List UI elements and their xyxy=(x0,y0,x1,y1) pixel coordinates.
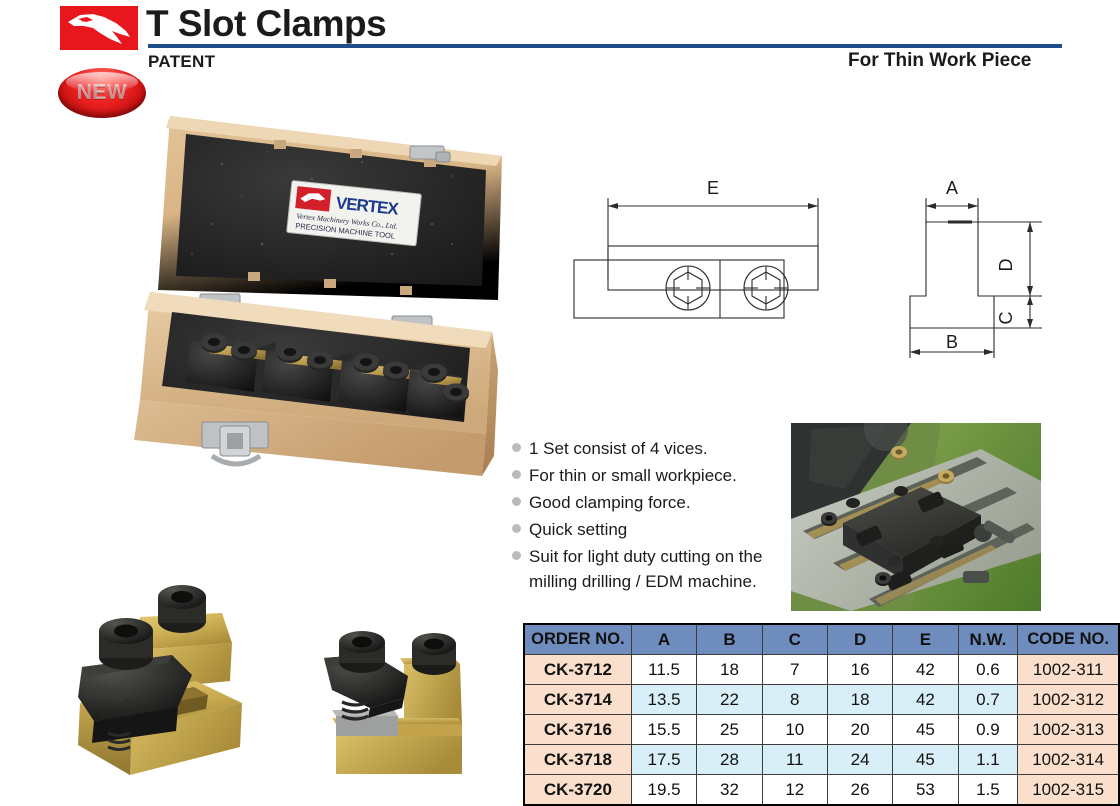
patent-label: PATENT xyxy=(148,52,215,72)
column-header: B xyxy=(697,624,762,655)
product-box-photo: VERTEX Vertex Machinery Works Co., Ltd. … xyxy=(62,104,510,500)
cell-order-no: CK-3716 xyxy=(524,715,631,745)
cell-b: 18 xyxy=(697,655,762,685)
table-row: CK-3718 17.5 28 11 24 45 1.1 1002-314 xyxy=(524,745,1119,775)
dim-label-d: D xyxy=(996,259,1016,272)
cell-code-no: 1002-311 xyxy=(1018,655,1119,685)
feature-text: For thin or small workpiece. xyxy=(529,463,737,488)
column-header: ORDER NO. xyxy=(524,624,631,655)
dim-label-b: B xyxy=(946,332,958,352)
cell-c: 7 xyxy=(762,655,827,685)
cell-c: 8 xyxy=(762,685,827,715)
cell-a: 17.5 xyxy=(631,745,697,775)
column-header: N.W. xyxy=(958,624,1018,655)
cell-code-no: 1002-314 xyxy=(1018,745,1119,775)
cell-a: 13.5 xyxy=(631,685,697,715)
cell-b: 28 xyxy=(697,745,762,775)
cell-a: 11.5 xyxy=(631,655,697,685)
cell-order-no: CK-3712 xyxy=(524,655,631,685)
feature-text: Suit for light duty cutting on the milli… xyxy=(529,544,784,594)
vertex-eagle-logo-icon xyxy=(60,6,138,50)
table-row: CK-3712 11.5 18 7 16 42 0.6 1002-311 xyxy=(524,655,1119,685)
application-photo xyxy=(791,423,1041,611)
cell-c: 11 xyxy=(762,745,827,775)
features-list: 1 Set consist of 4 vices. For thin or sm… xyxy=(512,436,784,596)
feature-text: Quick setting xyxy=(529,517,627,542)
product-photo-clamp-side xyxy=(300,628,495,788)
bullet-icon xyxy=(512,497,521,506)
list-item: For thin or small workpiece. xyxy=(512,463,784,488)
feature-text: Good clamping force. xyxy=(529,490,691,515)
cell-nw: 0.9 xyxy=(958,715,1018,745)
top-view-drawing: E xyxy=(560,162,850,362)
cell-d: 20 xyxy=(827,715,892,745)
dim-label-e: E xyxy=(707,178,719,198)
feature-text: 1 Set consist of 4 vices. xyxy=(529,436,708,461)
table-row: CK-3716 15.5 25 10 20 45 0.9 1002-313 xyxy=(524,715,1119,745)
cell-d: 24 xyxy=(827,745,892,775)
column-header: C xyxy=(762,624,827,655)
cell-d: 18 xyxy=(827,685,892,715)
bullet-icon xyxy=(512,443,521,452)
header-rule xyxy=(148,44,1062,48)
cell-b: 25 xyxy=(697,715,762,745)
cell-d: 16 xyxy=(827,655,892,685)
table-header-row: ORDER NO. A B C D E N.W. CODE NO. xyxy=(524,624,1119,655)
dim-label-c: C xyxy=(996,312,1016,325)
list-item: Good clamping force. xyxy=(512,490,784,515)
cell-order-no: CK-3718 xyxy=(524,745,631,775)
bullet-icon xyxy=(512,470,521,479)
cell-a: 15.5 xyxy=(631,715,697,745)
cell-c: 10 xyxy=(762,715,827,745)
cell-code-no: 1002-313 xyxy=(1018,715,1119,745)
column-header: CODE NO. xyxy=(1018,624,1119,655)
bullet-icon xyxy=(512,524,521,533)
dim-label-a: A xyxy=(946,178,958,198)
cell-nw: 1.1 xyxy=(958,745,1018,775)
column-header: D xyxy=(827,624,892,655)
product-photo-clamp-pair xyxy=(36,585,268,785)
column-header: E xyxy=(893,624,958,655)
cell-nw: 0.6 xyxy=(958,655,1018,685)
list-item: 1 Set consist of 4 vices. xyxy=(512,436,784,461)
cell-order-no: CK-3714 xyxy=(524,685,631,715)
cell-b: 22 xyxy=(697,685,762,715)
cell-code-no: 1002-312 xyxy=(1018,685,1119,715)
page-title: T Slot Clamps xyxy=(146,2,386,46)
cell-nw: 0.7 xyxy=(958,685,1018,715)
cell-e: 42 xyxy=(893,655,958,685)
table-row: CK-3714 13.5 22 8 18 42 0.7 1002-312 xyxy=(524,685,1119,715)
spec-table: ORDER NO. A B C D E N.W. CODE NO. CK-371… xyxy=(523,623,1120,806)
bullet-icon xyxy=(512,551,521,560)
column-header: A xyxy=(631,624,697,655)
list-item: Suit for light duty cutting on the milli… xyxy=(512,544,784,594)
cell-e: 45 xyxy=(893,745,958,775)
cell-e: 45 xyxy=(893,715,958,745)
side-view-drawing: A B C D xyxy=(890,162,1090,367)
header-subtitle: For Thin Work Piece xyxy=(848,50,1031,72)
list-item: Quick setting xyxy=(512,517,784,542)
cell-e: 42 xyxy=(893,685,958,715)
